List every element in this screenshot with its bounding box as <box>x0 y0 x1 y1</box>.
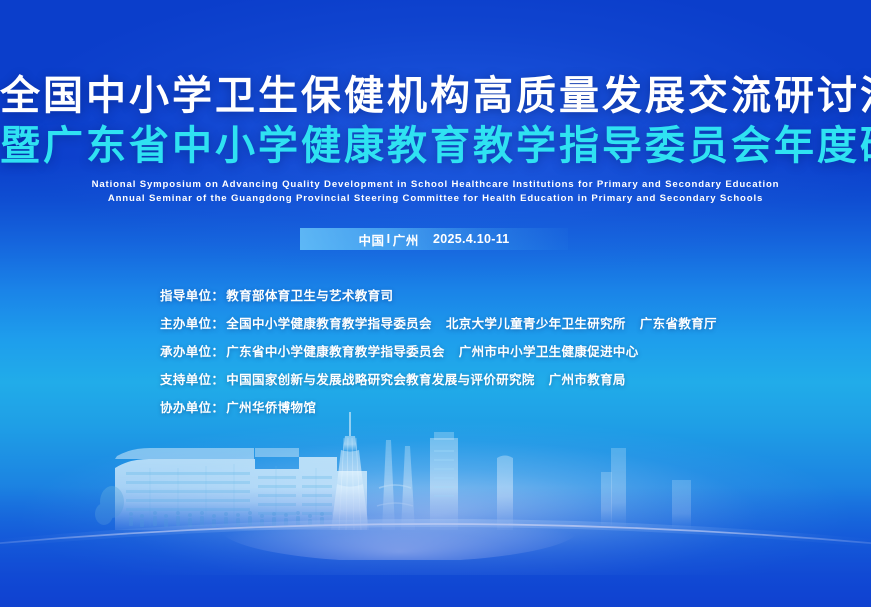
english-subtitle-line-2: Annual Seminar of the Guangdong Provinci… <box>0 192 871 206</box>
ground-gradient <box>0 487 871 607</box>
organization-label: 协办单位： <box>160 401 224 415</box>
badge-city: 广州 <box>393 230 419 249</box>
organization-label: 承办单位： <box>160 345 224 359</box>
organization-name: 全国中小学健康教育教学指导委员会 <box>226 317 432 331</box>
organization-row: 承办单位：广东省中小学健康教育教学指导委员会广州市中小学卫生健康促进中心 <box>160 344 717 360</box>
organization-values: 全国中小学健康教育教学指导委员会北京大学儿童青少年卫生研究所广东省教育厅 <box>226 317 717 331</box>
organization-name: 北京大学儿童青少年卫生研究所 <box>446 317 626 331</box>
organization-label: 指导单位： <box>160 289 224 303</box>
organization-list: 指导单位：教育部体育卫生与艺术教育司主办单位：全国中小学健康教育教学指导委员会北… <box>160 288 717 428</box>
organization-row: 支持单位：中国国家创新与发展战略研究会教育发展与评价研究院广州市教育局 <box>160 372 717 388</box>
organization-name: 广州华侨博物馆 <box>226 401 316 415</box>
badge-date: 2025.4.10-11 <box>433 232 510 246</box>
poster-title-block: 全国中小学卫生保健机构高质量发展交流研讨活动 暨广东省中小学健康教育教学指导委员… <box>0 74 871 168</box>
organization-label: 主办单位： <box>160 317 224 331</box>
organization-row: 指导单位：教育部体育卫生与艺术教育司 <box>160 288 717 304</box>
badge-separator: I <box>385 232 393 246</box>
english-subtitle-line-1: National Symposium on Advancing Quality … <box>0 178 871 192</box>
organization-values: 中国国家创新与发展战略研究会教育发展与评价研究院广州市教育局 <box>226 373 626 387</box>
english-subtitle: National Symposium on Advancing Quality … <box>0 178 871 206</box>
organization-label: 支持单位： <box>160 373 224 387</box>
organization-row: 主办单位：全国中小学健康教育教学指导委员会北京大学儿童青少年卫生研究所广东省教育… <box>160 316 717 332</box>
title-line-1: 全国中小学卫生保健机构高质量发展交流研讨活动 <box>0 74 871 118</box>
organization-values: 教育部体育卫生与艺术教育司 <box>226 289 393 303</box>
organization-values: 广东省中小学健康教育教学指导委员会广州市中小学卫生健康促进中心 <box>226 345 638 359</box>
title-line-2: 暨广东省中小学健康教育教学指导委员会年度研讨活动 <box>0 124 871 168</box>
badge-country: 中国 <box>358 230 384 249</box>
location-date-badge: 中国 I 广州 2025.4.10-11 <box>300 228 568 250</box>
organization-name: 中国国家创新与发展战略研究会教育发展与评价研究院 <box>226 373 534 387</box>
organization-name: 广东省中小学健康教育教学指导委员会 <box>226 345 444 359</box>
organization-name: 广州市教育局 <box>549 373 626 387</box>
organization-name: 教育部体育卫生与艺术教育司 <box>226 289 393 303</box>
organization-name: 广州市中小学卫生健康促进中心 <box>459 345 639 359</box>
conference-poster: 全国中小学卫生保健机构高质量发展交流研讨活动 暨广东省中小学健康教育教学指导委员… <box>0 0 871 607</box>
organization-name: 广东省教育厅 <box>640 317 717 331</box>
organization-row: 协办单位：广州华侨博物馆 <box>160 400 717 416</box>
organization-values: 广州华侨博物馆 <box>226 401 316 415</box>
